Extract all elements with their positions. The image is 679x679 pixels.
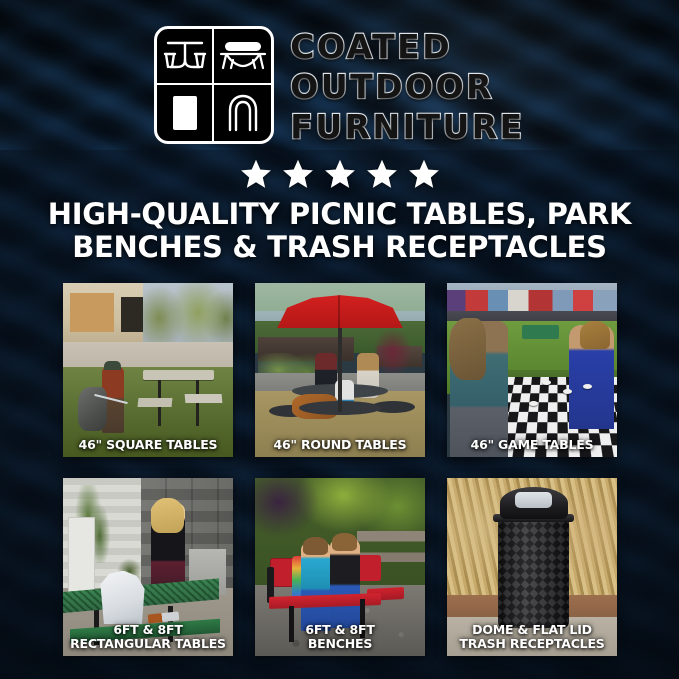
- park-bench-icon: [214, 29, 271, 85]
- product-caption: 46" SQUARE TABLES: [63, 438, 233, 452]
- page-title: HIGH-QUALITY PICNIC TABLES, PARK BENCHES…: [0, 198, 679, 264]
- product-caption: 6FT & 8FT RECTANGULAR TABLES: [63, 623, 233, 651]
- caption-line-1: 6FT & 8FT: [66, 623, 230, 637]
- brand-name-line-3: FURNITURE: [290, 108, 524, 147]
- product-image-game-tables: [447, 283, 617, 457]
- caption-line-1: 6FT & 8FT: [258, 623, 422, 637]
- trash-receptacle-icon: [157, 85, 214, 141]
- caption-line-1: DOME & FLAT LID: [450, 623, 614, 637]
- star-rating: [0, 158, 679, 190]
- caption-line-1: 46" SQUARE TABLES: [66, 438, 230, 452]
- brand-name-line-1: COATED: [290, 28, 524, 67]
- product-tile-game-tables[interactable]: 46" GAME TABLES: [447, 283, 617, 457]
- product-tile-round-tables[interactable]: 46" ROUND TABLES: [255, 283, 425, 457]
- picnic-table-icon: [157, 29, 214, 85]
- brand-name: COATED OUTDOOR FURNITURE: [290, 26, 524, 147]
- product-tile-rectangular-tables[interactable]: 6FT & 8FT RECTANGULAR TABLES: [63, 478, 233, 656]
- product-image-square-tables: [63, 283, 233, 457]
- star-icon: [408, 158, 440, 190]
- headline-line-1: HIGH-QUALITY PICNIC TABLES, PARK: [48, 197, 631, 231]
- star-icon: [324, 158, 356, 190]
- bike-rack-icon: [214, 85, 271, 141]
- product-caption: 6FT & 8FT BENCHES: [255, 623, 425, 651]
- product-tile-trash-receptacles[interactable]: DOME & FLAT LID TRASH RECEPTACLES: [447, 478, 617, 656]
- brand-name-line-2: OUTDOOR: [290, 68, 524, 107]
- advertisement-banner: COATED OUTDOOR FURNITURE HIGH-QUALITY PI…: [0, 0, 679, 679]
- product-tile-benches[interactable]: 6FT & 8FT BENCHES: [255, 478, 425, 656]
- product-grid: 46" SQUARE TABLES: [63, 283, 617, 656]
- caption-line-2: TRASH RECEPTACLES: [450, 637, 614, 651]
- caption-line-2: RECTANGULAR TABLES: [66, 637, 230, 651]
- product-image-round-tables: [255, 283, 425, 457]
- star-icon: [282, 158, 314, 190]
- coated-outdoor-furniture-quad-icon: [154, 26, 274, 144]
- star-icon: [240, 158, 272, 190]
- product-caption: 46" ROUND TABLES: [255, 438, 425, 452]
- banner-content: COATED OUTDOOR FURNITURE HIGH-QUALITY PI…: [0, 0, 679, 679]
- caption-line-1: 46" GAME TABLES: [450, 438, 614, 452]
- brand-logo: COATED OUTDOOR FURNITURE: [0, 26, 679, 147]
- product-tile-square-tables[interactable]: 46" SQUARE TABLES: [63, 283, 233, 457]
- caption-line-1: 46" ROUND TABLES: [258, 438, 422, 452]
- headline-line-2: BENCHES & TRASH RECEPTACLES: [28, 231, 651, 264]
- caption-line-2: BENCHES: [258, 637, 422, 651]
- product-caption: DOME & FLAT LID TRASH RECEPTACLES: [447, 623, 617, 651]
- product-caption: 46" GAME TABLES: [447, 438, 617, 452]
- star-icon: [366, 158, 398, 190]
